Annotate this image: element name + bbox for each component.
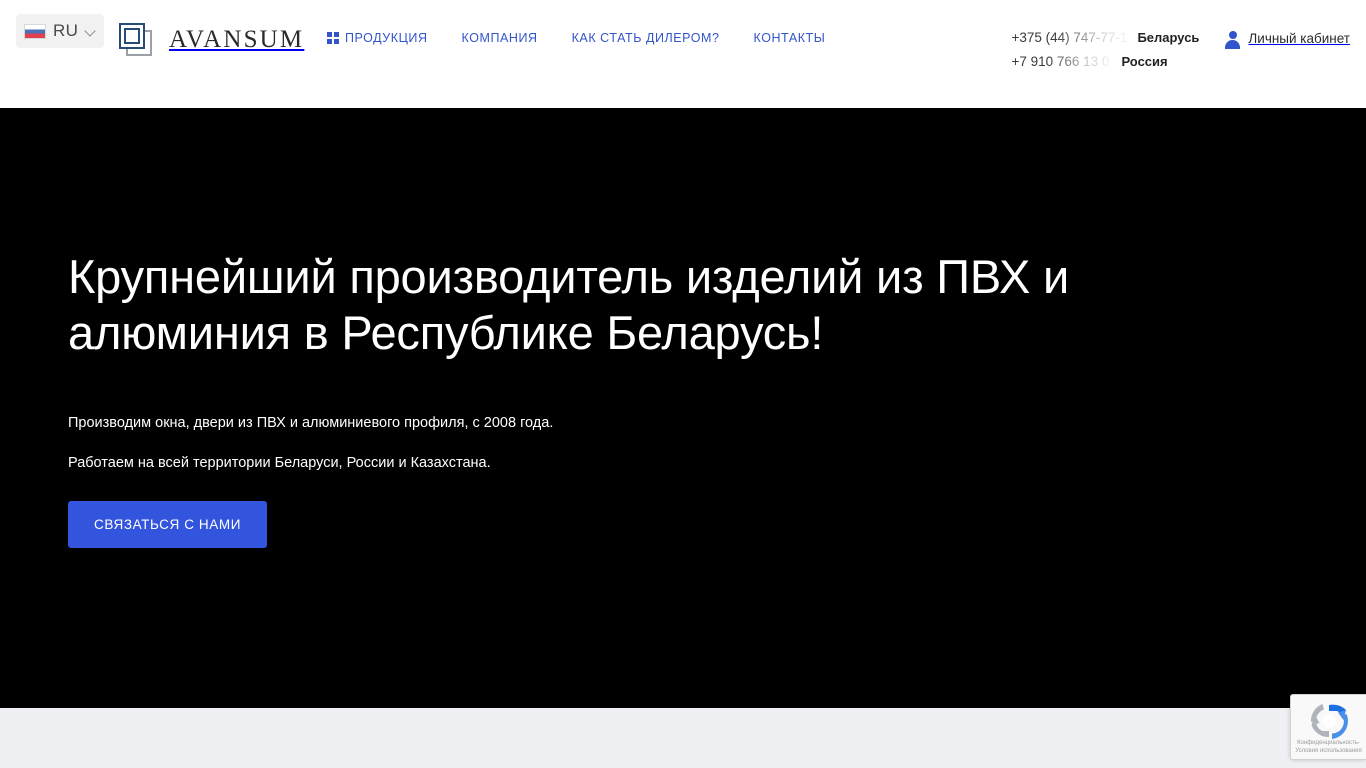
hero-section: Крупнейший производитель изделий из ПВХ … [0,108,1366,708]
recaptcha-terms-link[interactable]: Условия использования [1295,748,1362,754]
phone-row-belarus[interactable]: +375 (44) 747-77-1 Беларусь [1011,29,1199,46]
phone-country-belarus: Беларусь [1137,30,1199,45]
nav-item-become-dealer[interactable]: КАК СТАТЬ ДИЛЕРОМ? [572,31,720,45]
grid-icon [327,32,339,44]
hero-subtitle-secondary: Работаем на всей территории Беларуси, Ро… [68,453,1168,473]
language-code-label: RU [53,21,78,41]
nav-item-contacts[interactable]: КОНТАКТЫ [754,31,826,45]
phone-list: +375 (44) 747-77-1 Беларусь +7 910 766 1… [1011,29,1199,70]
page-title: Крупнейший производитель изделий из ПВХ … [68,249,1128,361]
main-navigation: ПРОДУКЦИЯ КОМПАНИЯ КАК СТАТЬ ДИЛЕРОМ? КО… [327,31,825,45]
contact-us-button[interactable]: СВЯЗАТЬСЯ С НАМИ [68,501,267,548]
chevron-down-icon [86,26,96,36]
brand-name-label: AVANSUM [169,26,304,54]
nav-item-company-label: КОМПАНИЯ [462,31,538,45]
language-switcher[interactable]: RU [16,14,104,48]
nav-item-products[interactable]: ПРОДУКЦИЯ [327,31,428,45]
brand-logo-link[interactable]: AVANSUM [119,22,304,58]
header-contact-area: +375 (44) 747-77-1 Беларусь +7 910 766 1… [1011,29,1350,70]
avansum-square-logo-icon [119,22,155,58]
account-link[interactable]: Личный кабинет [1224,29,1350,47]
phone-number-belarus[interactable]: +375 (44) 747-77-1 [1011,30,1127,45]
nav-item-company[interactable]: КОМПАНИЯ [462,31,538,45]
recaptcha-legal-text: Конфиденциальность- Условия использовани… [1291,740,1366,755]
phone-number-russia[interactable]: +7 910 766 13 0 [1011,54,1111,69]
site-header: RU AVANSUM ПРОДУКЦИЯ КОМПАНИЯ КАК СТАТЬ … [0,0,1366,108]
recaptcha-badge[interactable]: Конфиденциальность- Условия использовани… [1290,694,1366,760]
below-hero-section [0,708,1366,768]
hero-content: Крупнейший производитель изделий из ПВХ … [68,249,1168,548]
flag-ru-icon [24,24,46,39]
phone-row-russia[interactable]: +7 910 766 13 0 Россия [1011,53,1199,70]
recaptcha-separator: - [1358,740,1360,746]
hero-subtitle-primary: Производим окна, двери из ПВХ и алюминие… [68,413,1168,433]
nav-item-products-label: ПРОДУКЦИЯ [345,31,428,45]
account-link-label: Личный кабинет [1248,31,1350,46]
phone-country-russia: Россия [1121,54,1167,69]
recaptcha-logo-icon [1308,700,1350,742]
nav-item-contacts-label: КОНТАКТЫ [754,31,826,45]
person-icon [1224,30,1241,47]
nav-item-become-dealer-label: КАК СТАТЬ ДИЛЕРОМ? [572,31,720,45]
